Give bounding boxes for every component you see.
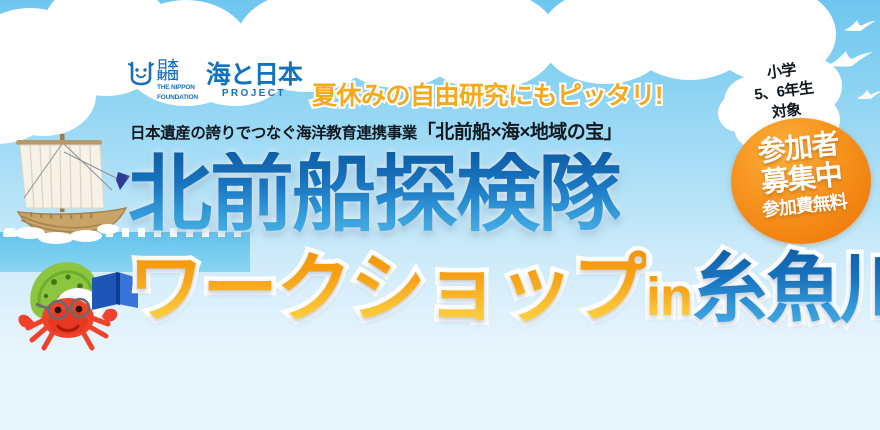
nippon-foundation-en-line2: FOUNDATION bbox=[157, 94, 198, 102]
main-title-line2-wrap: ワークショップin糸魚川 ワークショップin糸魚川 bbox=[128, 252, 880, 335]
recruitment-badge-text: 参加者 募集中 参加費無料 bbox=[727, 125, 875, 224]
recruitment-badge: 参加者 募集中 参加費無料 bbox=[731, 118, 871, 244]
umi-to-nippon-project-logo: 海と日本 PROJECT bbox=[206, 63, 302, 99]
main-title-line2-part2: 糸魚川 bbox=[692, 247, 880, 332]
kitamaebune-ship-illustration bbox=[8, 128, 148, 248]
main-title-line2: ワークショップin糸魚川 bbox=[128, 252, 880, 335]
main-title-line2-part1: ワークショップ bbox=[128, 247, 646, 332]
sub-lead-quoted: 「北前船×海×地域の宝」 bbox=[417, 117, 622, 144]
nippon-foundation-en-line1: THE NIPPON bbox=[157, 84, 198, 92]
nippon-foundation-kanji-line2: 財団 bbox=[157, 71, 198, 82]
main-title-in: in bbox=[646, 267, 692, 327]
umi-to-nippon-main: 海と日本 bbox=[206, 63, 302, 88]
umi-to-nippon-sub: PROJECT bbox=[222, 88, 286, 99]
logo-row: 日本 財団 THE NIPPON FOUNDATION 海と日本 PROJECT bbox=[128, 60, 302, 102]
promo-banner: 日本 財団 THE NIPPON FOUNDATION 海と日本 PROJECT… bbox=[0, 0, 880, 430]
crab-mascot-illustration bbox=[6, 248, 141, 353]
main-title-line1: 北前船探検隊 bbox=[128, 152, 620, 236]
sub-lead-plain: 日本遺産の誇りでつなぐ海洋教育連携事業 bbox=[130, 121, 417, 143]
nippon-foundation-mark-icon bbox=[128, 60, 154, 86]
sub-lead-line: 日本遺産の誇りでつなぐ海洋教育連携事業 「北前船×海×地域の宝」 bbox=[130, 117, 622, 144]
seagull-icon bbox=[856, 88, 880, 100]
seagull-icon bbox=[843, 18, 877, 32]
nippon-foundation-logo: 日本 財団 THE NIPPON FOUNDATION bbox=[128, 60, 198, 102]
catch-copy: 夏休みの自由研究にもピッタリ! bbox=[312, 76, 663, 112]
